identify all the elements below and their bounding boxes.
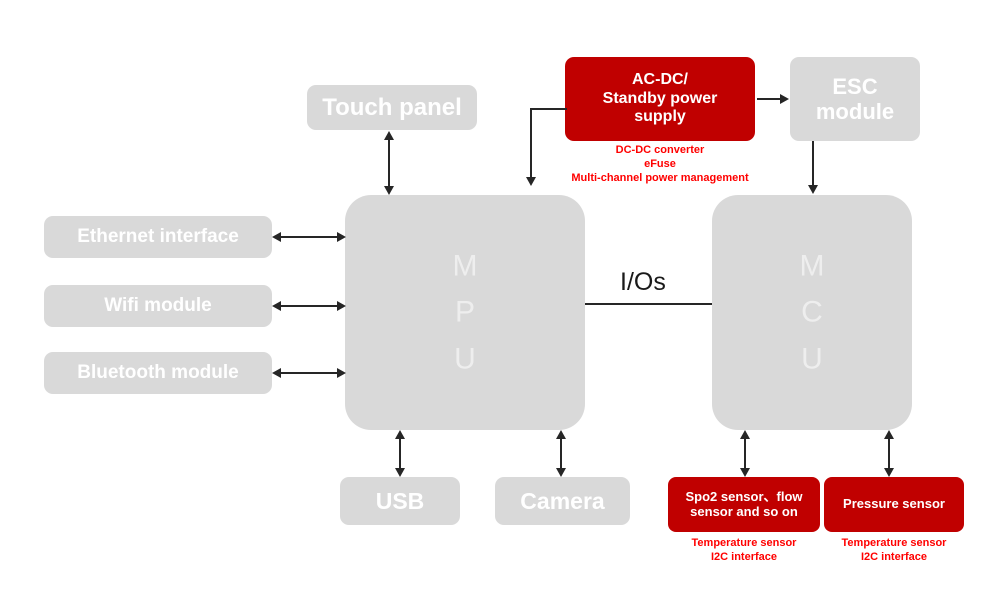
power-to-esc-line [757,98,781,100]
ethernet-arrow-left [272,232,281,242]
spo2-arrow-down [740,468,750,477]
bluetooth-module-block[interactable]: Bluetooth module [44,352,272,394]
power-to-mpu-vertical [530,108,532,178]
power-supply-block[interactable]: AC-DC/ Standby power supply [565,57,755,141]
esc-to-mcu-line [812,141,814,186]
camera-connector [560,438,562,469]
pressure-sensor-caption: Temperature sensor I2C interface [814,537,974,565]
touch-panel-arrow-down [384,186,394,195]
mpu-block[interactable]: M P U [345,195,585,430]
spo2-sensor-block[interactable]: Spo2 sensor、flow sensor and so on [668,477,820,532]
mcu-block[interactable]: M C U [712,195,912,430]
usb-connector [399,438,401,469]
io-bus-label: I/Os [620,268,666,297]
wifi-arrow-left [272,301,281,311]
pressure-connector [888,438,890,469]
esc-module-block[interactable]: ESC module [790,57,920,141]
pressure-arrow-up [884,430,894,439]
esc-to-mcu-arrow [808,185,818,194]
ethernet-connector [281,236,337,238]
io-bus-line [585,303,712,305]
usb-arrow-down [395,468,405,477]
mpu-label: M P U [345,243,585,383]
usb-block[interactable]: USB [340,477,460,525]
wifi-arrow-right [337,301,346,311]
touch-panel-block[interactable]: Touch panel [307,85,477,130]
spo2-sensor-caption: Temperature sensor I2C interface [663,537,825,565]
wifi-module-block[interactable]: Wifi module [44,285,272,327]
mcu-label: M C U [712,243,912,383]
bluetooth-arrow-right [337,368,346,378]
bluetooth-arrow-left [272,368,281,378]
bluetooth-connector [281,372,337,374]
camera-arrow-down [556,468,566,477]
block-diagram-canvas: M P U M C U Touch panel AC-DC/ Standby p… [0,0,1000,600]
ethernet-arrow-right [337,232,346,242]
usb-arrow-up [395,430,405,439]
camera-block[interactable]: Camera [495,477,630,525]
touch-panel-arrow-up [384,131,394,140]
power-to-mpu-arrow [526,177,536,186]
spo2-connector [744,438,746,469]
power-to-mpu-horizontal [530,108,567,110]
pressure-sensor-block[interactable]: Pressure sensor [824,477,964,532]
power-supply-caption: DC-DC converter eFuse Multi-channel powe… [545,144,775,185]
ethernet-interface-block[interactable]: Ethernet interface [44,216,272,258]
wifi-connector [281,305,337,307]
pressure-arrow-down [884,468,894,477]
touch-panel-connector [388,139,390,186]
camera-arrow-up [556,430,566,439]
spo2-arrow-up [740,430,750,439]
power-to-esc-arrow [780,94,789,104]
